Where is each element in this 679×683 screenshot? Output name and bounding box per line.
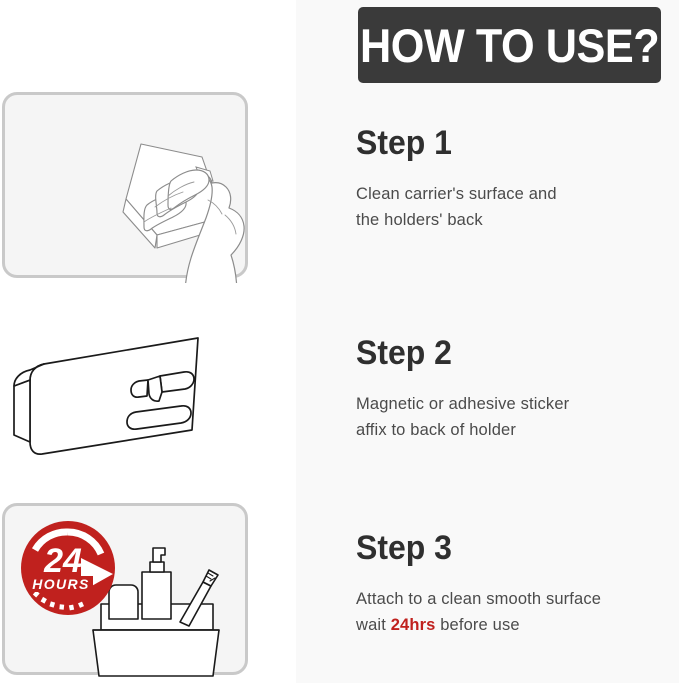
hand-wiping-cloth-icon (5, 95, 255, 315)
badge-unit: HOURS (32, 576, 90, 592)
twentyfour-hours-badge: 24 HOURS (21, 521, 115, 615)
step-3-illustration-panel: 24 HOURS (2, 503, 248, 675)
step-3-body-suffix: before use (435, 616, 519, 634)
step-2-heading: Step 2 (356, 336, 657, 372)
step-1-body: Clean carrier's surface and the holders'… (356, 181, 676, 233)
step-3-body-prefix: wait (356, 616, 391, 634)
text-column: HOW TO USE? Step 1 Clean carrier's surfa… (296, 0, 679, 683)
illustration-column: 24 HOURS (0, 0, 296, 683)
step-1-body-line-1: Clean carrier's surface and (356, 181, 676, 207)
step-3-text-block: Step 3 Attach to a clean smooth surface … (356, 531, 676, 638)
page-title: HOW TO USE? (360, 22, 659, 69)
page-title-badge: HOW TO USE? (358, 7, 661, 83)
badge-number: 24 (43, 542, 82, 580)
step-1-heading: Step 1 (356, 126, 657, 162)
how-to-use-infographic: 24 HOURS HOW TO USE? Step 1 Clean carrie… (0, 0, 679, 683)
step-1-text-block: Step 1 Clean carrier's surface and the h… (356, 126, 676, 233)
step-1-illustration-panel (2, 92, 248, 278)
step-3-body: Attach to a clean smooth surface wait 24… (356, 586, 676, 638)
step-3-body-line-2: wait 24hrs before use (356, 612, 676, 638)
step-2-body-line-2: affix to back of holder (356, 417, 676, 443)
step-3-heading: Step 3 (356, 531, 657, 567)
step-2-body: Magnetic or adhesive sticker affix to ba… (356, 391, 676, 443)
holder-adhesive-strips-icon (2, 322, 252, 487)
step-1-body-line-2: the holders' back (356, 207, 676, 233)
step-2-text-block: Step 2 Magnetic or adhesive sticker affi… (356, 336, 676, 443)
twentyfour-hours-caddy-icon: 24 HOURS (5, 506, 255, 682)
step-3-duration-highlight: 24hrs (391, 616, 436, 634)
step-2-illustration-panel (2, 322, 248, 482)
step-3-body-line-1: Attach to a clean smooth surface (356, 586, 676, 612)
step-2-body-line-1: Magnetic or adhesive sticker (356, 391, 676, 417)
